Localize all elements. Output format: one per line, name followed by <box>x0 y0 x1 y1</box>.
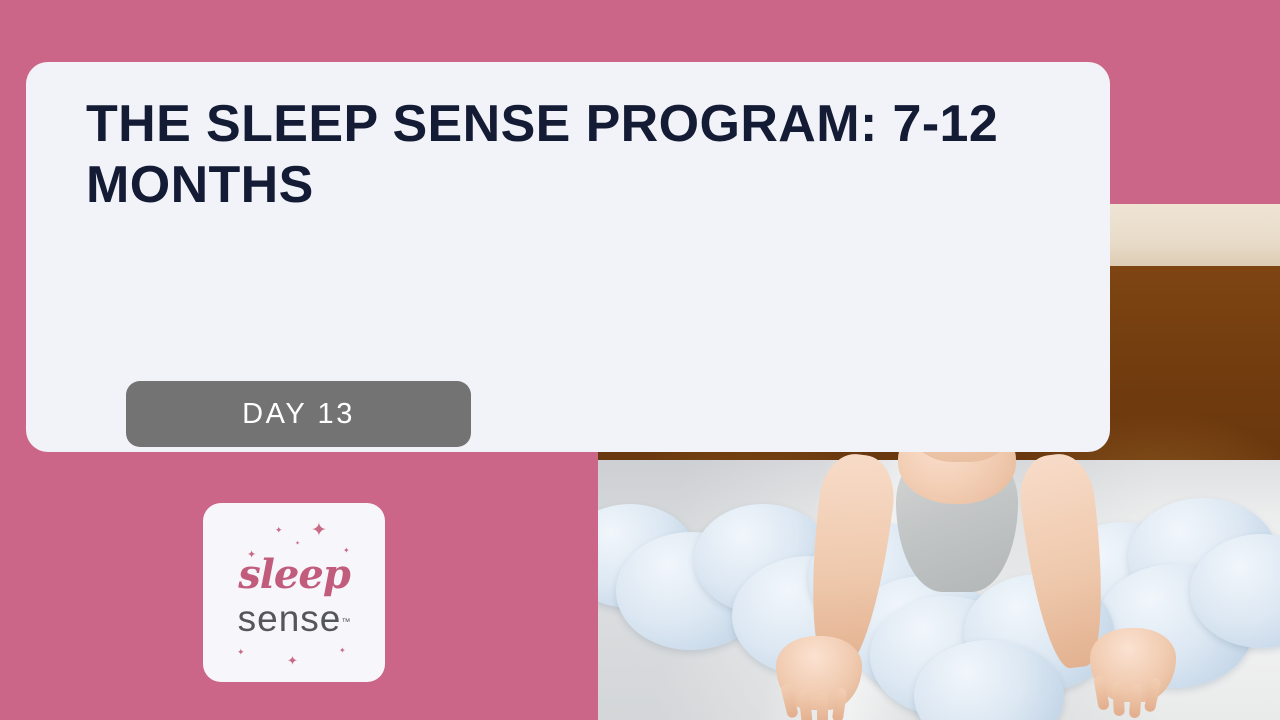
sparkle-icon: ✦ <box>339 647 346 655</box>
photo-baby-finger <box>1129 684 1142 719</box>
sparkle-icon: ✦ <box>287 655 298 668</box>
sparkle-icon: ✦ <box>237 649 245 658</box>
sparkle-icon: ✦ <box>275 527 283 536</box>
slide-canvas: THE SLEEP SENSE PROGRAM: 7-12 MONTHS DAY… <box>0 0 1280 720</box>
day-badge: DAY 13 <box>126 381 471 447</box>
sparkle-icon: ✦ <box>295 541 300 547</box>
logo-wordmark-secondary: sense <box>238 598 342 639</box>
logo-wordmark-primary: sleep <box>203 551 385 598</box>
logo-wordmark-secondary-wrap: sense™ <box>203 598 385 640</box>
page-title: THE SLEEP SENSE PROGRAM: 7-12 MONTHS <box>86 94 1066 216</box>
sparkle-icon: ✦ <box>311 521 327 540</box>
photo-baby-finger <box>817 692 828 720</box>
trademark-icon: ™ <box>341 617 350 627</box>
title-card: THE SLEEP SENSE PROGRAM: 7-12 MONTHS DAY… <box>26 62 1110 452</box>
brand-logo: ✦ ✦ ✦ ✦ ✦ sleep sense™ ✦ ✦ ✦ <box>203 503 385 682</box>
photo-baby-finger <box>1112 682 1125 717</box>
day-badge-label: DAY 13 <box>242 398 355 431</box>
